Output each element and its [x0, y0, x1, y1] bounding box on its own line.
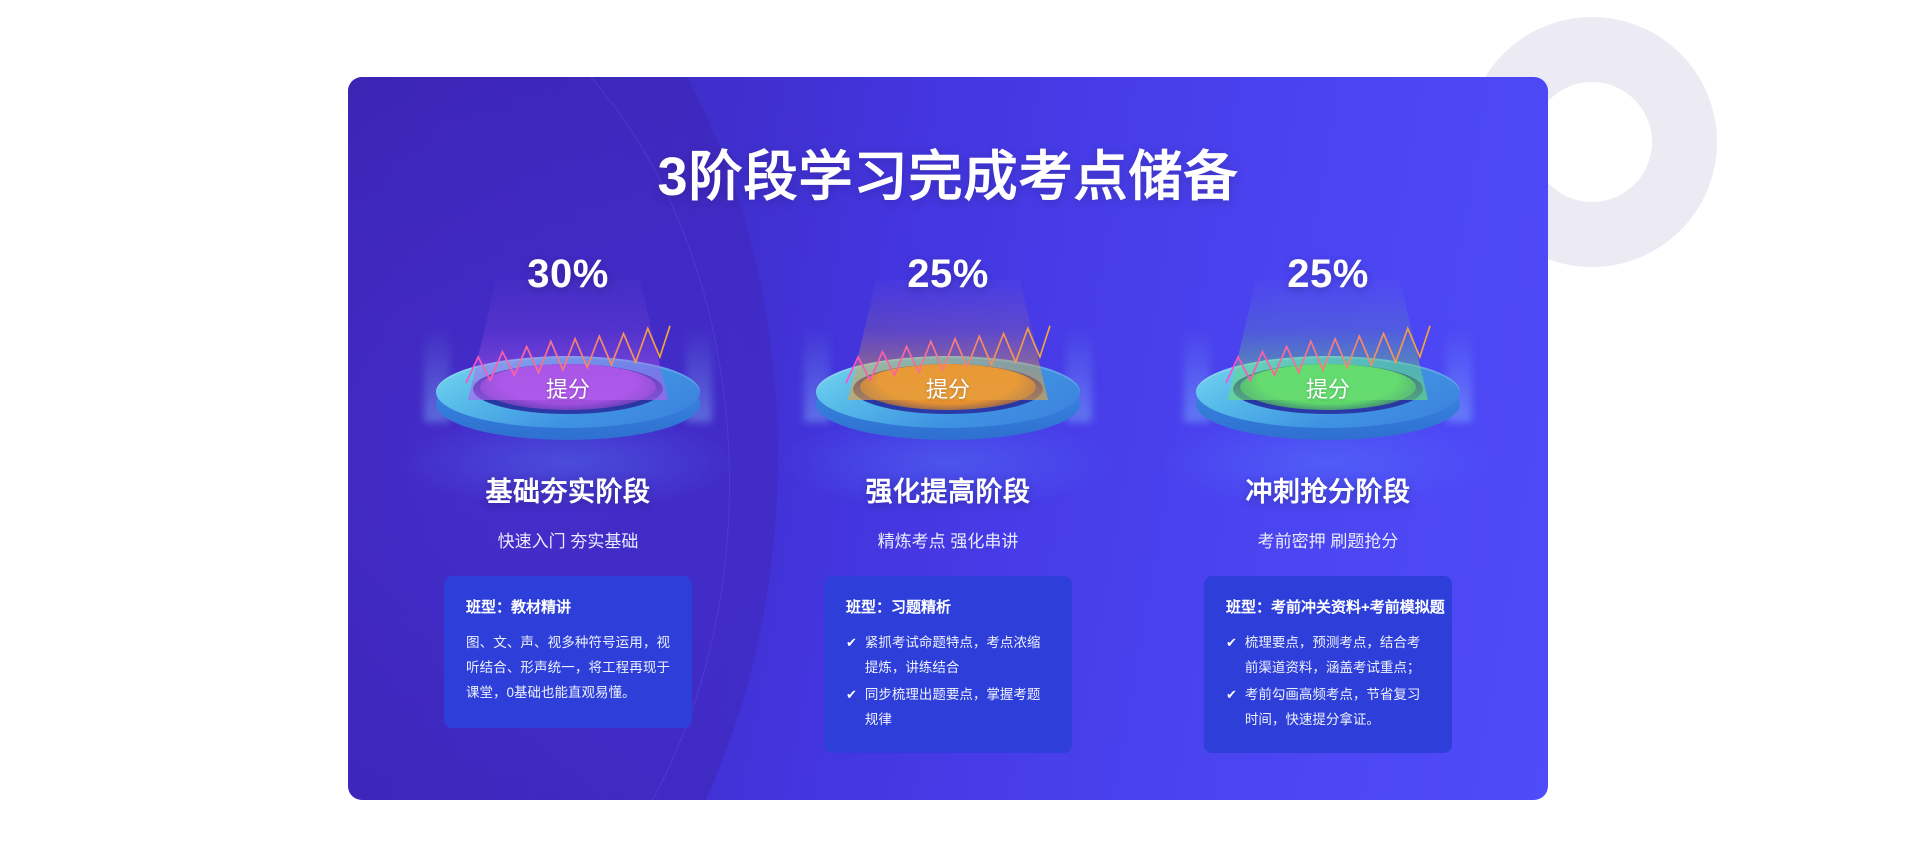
info-card-paragraph: 图、文、声、视多种符号运用，视听结合、形声统一，将工程再现于课堂，0基础也能直观…: [466, 631, 670, 706]
stage-title: 基础夯实阶段: [486, 470, 651, 509]
stage-card-1[interactable]: 30% 提分 基础夯实阶段 快速入门 夯实基础 班型：教材精讲 图、文、声、视多…: [378, 252, 758, 753]
stage-subtitle: 考前密押 刷题抢分: [1258, 527, 1399, 552]
list-item-label: 梳理要点，预测考点，结合考前渠道资料，涵盖考试重点；: [1245, 631, 1430, 681]
page-title: 3阶段学习完成考点储备: [348, 132, 1548, 211]
podium-label: 提分: [418, 372, 718, 404]
stage-card-3[interactable]: 25% 提分 冲刺抢分阶段 考前密押 刷题抢分 班型：考前冲关资料+考前模拟题 …: [1138, 252, 1518, 753]
stage-percent: 30%: [418, 252, 718, 297]
stage-subtitle: 快速入门 夯实基础: [498, 527, 639, 552]
check-icon: ✔: [1226, 631, 1237, 681]
podium-graphic-2: 25% 提分: [798, 252, 1098, 462]
info-card-title: 班型：考前冲关资料+考前模拟题: [1226, 596, 1430, 617]
info-card-title: 班型：习题精析: [846, 596, 1050, 617]
podium-label: 提分: [798, 372, 1098, 404]
list-item: ✔梳理要点，预测考点，结合考前渠道资料，涵盖考试重点；: [1226, 631, 1430, 681]
podium-label: 提分: [1178, 372, 1478, 404]
info-card-bullets: ✔梳理要点，预测考点，结合考前渠道资料，涵盖考试重点；✔考前勾画高频考点，节省复…: [1226, 631, 1430, 733]
list-item-label: 紧抓考试命题特点，考点浓缩提炼，讲练结合: [865, 631, 1050, 681]
info-card-bullets: ✔紧抓考试命题特点，考点浓缩提炼，讲练结合✔同步梳理出题要点，掌握考题规律: [846, 631, 1050, 733]
list-item: ✔紧抓考试命题特点，考点浓缩提炼，讲练结合: [846, 631, 1050, 681]
stages-row: 30% 提分 基础夯实阶段 快速入门 夯实基础 班型：教材精讲 图、文、声、视多…: [348, 252, 1548, 753]
podium-graphic-1: 30% 提分: [418, 252, 718, 462]
stage-subtitle: 精炼考点 强化串讲: [878, 527, 1019, 552]
stage-percent: 25%: [1178, 252, 1478, 297]
stage-info-card[interactable]: 班型：教材精讲 图、文、声、视多种符号运用，视听结合、形声统一，将工程再现于课堂…: [444, 576, 692, 728]
promo-panel: 3阶段学习完成考点储备: [348, 77, 1548, 800]
stage-card-2[interactable]: 25% 提分 强化提高阶段 精炼考点 强化串讲 班型：习题精析 ✔紧抓考试命题特…: [758, 252, 1138, 753]
list-item-label: 考前勾画高频考点，节省复习时间，快速提分拿证。: [1245, 683, 1430, 733]
check-icon: ✔: [1226, 683, 1237, 733]
stage-title: 强化提高阶段: [866, 470, 1031, 509]
stage-info-card[interactable]: 班型：考前冲关资料+考前模拟题 ✔梳理要点，预测考点，结合考前渠道资料，涵盖考试…: [1204, 576, 1452, 753]
check-icon: ✔: [846, 631, 857, 681]
list-item: ✔同步梳理出题要点，掌握考题规律: [846, 683, 1050, 733]
stage-percent: 25%: [798, 252, 1098, 297]
list-item: ✔考前勾画高频考点，节省复习时间，快速提分拿证。: [1226, 683, 1430, 733]
info-card-title: 班型：教材精讲: [466, 596, 670, 617]
stage-info-card[interactable]: 班型：习题精析 ✔紧抓考试命题特点，考点浓缩提炼，讲练结合✔同步梳理出题要点，掌…: [824, 576, 1072, 753]
podium-graphic-3: 25% 提分: [1178, 252, 1478, 462]
check-icon: ✔: [846, 683, 857, 733]
list-item-label: 同步梳理出题要点，掌握考题规律: [865, 683, 1050, 733]
stage-title: 冲刺抢分阶段: [1246, 470, 1411, 509]
